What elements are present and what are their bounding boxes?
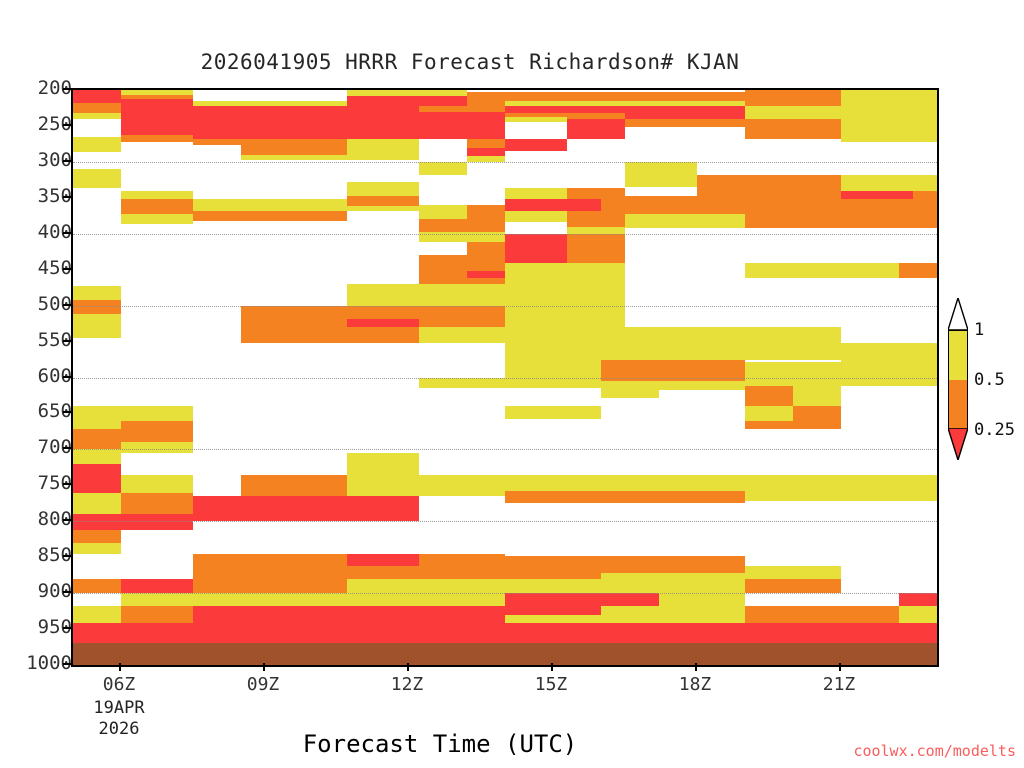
heatmap-cell xyxy=(505,306,625,328)
heatmap-cell xyxy=(73,90,121,103)
heatmap-cell xyxy=(193,211,347,221)
heatmap-cell xyxy=(347,566,419,579)
heatmap-cell xyxy=(467,205,505,219)
heatmap-cell xyxy=(121,199,193,213)
gridline xyxy=(73,162,937,164)
heatmap-cell xyxy=(121,191,193,200)
heatmap-cell xyxy=(73,286,121,300)
heatmap-cell xyxy=(625,214,745,228)
heatmap-cell xyxy=(567,263,625,285)
heatmap-canvas xyxy=(73,90,937,665)
heatmap-cell xyxy=(419,284,505,306)
colorbar-max-arrow-icon xyxy=(948,298,968,330)
heatmap-cell xyxy=(241,145,347,155)
heatmap-cell xyxy=(419,271,467,284)
heatmap-cell xyxy=(121,493,193,515)
heatmap-cell xyxy=(73,169,121,188)
gridline xyxy=(73,449,937,451)
heatmap-cell xyxy=(745,191,793,211)
heatmap-cell xyxy=(73,113,121,119)
heatmap-cell xyxy=(601,579,745,593)
heatmap-cell xyxy=(745,475,841,492)
x-tick-mark xyxy=(551,663,553,671)
heatmap-cell xyxy=(505,188,567,200)
x-tick-mark xyxy=(839,663,841,671)
heatmap-cell xyxy=(567,234,625,263)
heatmap-cell xyxy=(121,406,193,420)
heatmap-cell xyxy=(793,191,841,211)
heatmap-cell xyxy=(841,362,937,378)
heatmap-cell xyxy=(73,406,121,429)
y-tick-mark xyxy=(63,519,71,521)
heatmap-cell xyxy=(745,343,841,360)
heatmap-cell xyxy=(678,343,745,360)
heatmap-cell xyxy=(659,360,745,372)
heatmap-cell xyxy=(567,106,625,113)
heatmap-cell xyxy=(419,579,601,593)
heatmap-cell xyxy=(419,554,505,579)
heatmap-cell xyxy=(347,496,419,521)
y-tick-mark xyxy=(63,483,71,485)
y-tick-mark xyxy=(63,663,71,665)
heatmap-cell xyxy=(899,263,937,279)
heatmap-cell xyxy=(697,175,745,197)
heatmap-cell xyxy=(347,465,419,482)
y-tick-mark xyxy=(63,447,71,449)
heatmap-cell xyxy=(625,196,745,213)
heatmap-cell xyxy=(347,554,419,566)
heatmap-cell xyxy=(601,556,745,573)
heatmap-cell xyxy=(467,92,625,101)
heatmap-cell xyxy=(73,103,121,113)
heatmap-cell xyxy=(467,271,505,278)
heatmap-cell xyxy=(745,406,793,420)
heatmap-cell xyxy=(347,106,419,139)
gridline xyxy=(73,234,937,236)
heatmap-cell xyxy=(841,119,937,142)
y-tick-mark xyxy=(63,627,71,629)
heatmap-cell xyxy=(745,106,841,119)
heatmap-cell xyxy=(745,491,937,501)
heatmap-cell xyxy=(347,139,419,160)
heatmap-cell xyxy=(121,99,193,135)
heatmap-cell xyxy=(73,543,121,554)
heatmap-cell xyxy=(467,242,505,271)
x-axis-title: Forecast Time (UTC) xyxy=(0,730,880,758)
heatmap-cell xyxy=(347,284,419,306)
heatmap-cell xyxy=(505,117,567,121)
heatmap-cell xyxy=(73,314,121,338)
heatmap-cell xyxy=(419,475,505,497)
heatmap-cell xyxy=(467,139,505,148)
heatmap-cell xyxy=(419,112,505,139)
x-tick-label: 21Z xyxy=(823,674,856,695)
heatmap-cell xyxy=(121,475,193,493)
y-tick-mark xyxy=(63,591,71,593)
heatmap-cell xyxy=(193,573,347,593)
heatmap-cell xyxy=(505,606,601,615)
x-tick-label: 12Z xyxy=(391,674,424,695)
heatmap-cell xyxy=(193,496,347,521)
heatmap-cell xyxy=(505,284,625,306)
x-tick-label: 09Z xyxy=(247,674,280,695)
x-tick-mark xyxy=(695,663,697,671)
heatmap-cell xyxy=(419,219,505,232)
heatmap-cell xyxy=(745,211,937,228)
y-tick-mark xyxy=(63,340,71,342)
y-tick-mark xyxy=(63,555,71,557)
heatmap-cell xyxy=(745,90,841,106)
heatmap-cell xyxy=(899,606,937,615)
heatmap-cell xyxy=(745,386,793,406)
heatmap-cell xyxy=(899,615,937,624)
heatmap-cell xyxy=(567,188,625,200)
heatmap-cell xyxy=(745,175,841,191)
heatmap-cell xyxy=(601,606,745,623)
terrain-bar xyxy=(73,643,937,665)
heatmap-cell xyxy=(745,421,841,430)
heatmap-cell xyxy=(347,579,419,593)
heatmap-cell xyxy=(73,606,121,623)
colorbar-segment-yellow xyxy=(949,331,967,380)
heatmap-cell xyxy=(419,327,505,343)
heatmap-cell xyxy=(419,255,467,271)
heatmap-cell xyxy=(193,606,347,623)
y-tick-mark xyxy=(63,411,71,413)
heatmap-cell xyxy=(625,175,697,187)
heatmap-cell xyxy=(841,343,937,362)
heatmap-cell xyxy=(841,606,899,623)
heatmap-cell xyxy=(567,227,625,234)
y-tick-mark xyxy=(63,124,71,126)
heatmap-cell xyxy=(193,554,347,573)
heatmap-cell xyxy=(121,214,193,224)
colorbar-tick-0-5: 0.5 xyxy=(974,370,1005,390)
heatmap-cell xyxy=(841,199,937,211)
y-tick-mark xyxy=(63,268,71,270)
heatmap-cell xyxy=(505,263,567,285)
heatmap-cell xyxy=(505,556,601,579)
x-axis-date-line: 19APR xyxy=(93,698,144,718)
heatmap-cell xyxy=(567,211,625,227)
heatmap-cell xyxy=(347,606,505,623)
heatmap-cell xyxy=(601,360,659,372)
chart-title: 2026041905 HRRR Forecast Richardson# KJA… xyxy=(0,50,940,74)
heatmap-cell xyxy=(567,119,625,139)
heatmap-cell xyxy=(467,148,505,157)
heatmap-cell xyxy=(505,245,567,262)
heatmap-cell xyxy=(193,106,347,139)
gridline xyxy=(73,593,937,595)
heatmap-cell xyxy=(625,343,678,360)
heatmap-cell xyxy=(121,606,193,623)
heatmap-cell xyxy=(73,579,121,593)
heatmap-cell xyxy=(505,491,745,503)
heatmap-cell xyxy=(505,360,601,378)
heatmap-cell xyxy=(793,406,841,420)
heatmap-cell xyxy=(745,119,841,139)
heatmap-cell xyxy=(841,475,937,492)
watermark: coolwx.com/modelts xyxy=(853,742,1016,760)
heatmap-cell xyxy=(601,390,659,397)
heatmap-cell xyxy=(841,90,937,99)
y-tick-mark xyxy=(63,88,71,90)
plot-area xyxy=(71,88,939,667)
heatmap-cell xyxy=(241,155,347,160)
heatmap-cell xyxy=(241,475,347,497)
heatmap-cell xyxy=(625,119,745,128)
heatmap-cell xyxy=(601,475,745,492)
heatmap-cell xyxy=(601,372,745,381)
heatmap-cell xyxy=(73,530,121,543)
y-tick-mark xyxy=(63,232,71,234)
heatmap-cell xyxy=(505,199,601,211)
x-tick-label: 15Z xyxy=(535,674,568,695)
heatmap-cell xyxy=(745,606,841,623)
heatmap-cell xyxy=(505,343,625,360)
y-tick-mark xyxy=(63,376,71,378)
heatmap-cell xyxy=(745,579,841,593)
heatmap-cell xyxy=(121,421,193,443)
heatmap-cell xyxy=(505,327,625,343)
heatmap-cell xyxy=(841,175,937,191)
heatmap-cell xyxy=(601,381,745,390)
heatmap-cell xyxy=(625,92,745,101)
heatmap-cell xyxy=(745,263,841,279)
gridline xyxy=(73,378,937,380)
heatmap-cell xyxy=(347,206,419,210)
heatmap-cell xyxy=(73,137,121,151)
heatmap-cell xyxy=(625,327,745,343)
heatmap-cell xyxy=(505,211,567,223)
colorbar-tick-1: 1 xyxy=(974,320,984,340)
heatmap-cell xyxy=(419,306,505,328)
heatmap-cell xyxy=(121,579,193,593)
colorbar-tick-0-25: 0.25 xyxy=(974,420,1015,440)
heatmap-cell xyxy=(745,566,841,579)
gridline xyxy=(73,521,937,523)
heatmap-cell xyxy=(505,406,601,419)
heatmap-cell xyxy=(505,475,601,492)
colorbar-min-arrow-icon xyxy=(948,428,968,460)
heatmap-cell xyxy=(347,196,419,206)
heatmap-cell xyxy=(505,615,601,624)
heatmap-cell xyxy=(347,453,419,465)
heatmap-cell xyxy=(241,319,347,328)
heatmap-cell xyxy=(241,327,347,343)
heatmap-cell xyxy=(419,205,467,219)
heatmap-cell xyxy=(347,96,467,106)
heatmap-cell xyxy=(841,191,913,200)
heatmap-cell xyxy=(625,106,745,119)
colorbar-segment-orange xyxy=(949,380,967,429)
heatmap-cell xyxy=(347,319,419,328)
heatmap-cell xyxy=(73,501,121,514)
heatmap-cell xyxy=(347,182,419,196)
x-tick-mark xyxy=(407,663,409,671)
heatmap-cell xyxy=(193,199,347,211)
x-tick-label: 18Z xyxy=(679,674,712,695)
heatmap-cell xyxy=(793,386,841,406)
colorbar: 1 0.5 0.25 xyxy=(944,300,972,460)
heatmap-cell xyxy=(73,429,121,449)
x-tick-mark xyxy=(263,663,265,671)
heatmap-cell xyxy=(73,449,121,463)
heatmap-cell xyxy=(347,482,419,496)
colorbar-body xyxy=(948,330,968,430)
y-tick-mark xyxy=(63,304,71,306)
y-tick-mark xyxy=(63,196,71,198)
heatmap-cell xyxy=(73,464,121,493)
heatmap-cell xyxy=(347,327,419,343)
heatmap-cell xyxy=(121,135,193,142)
heatmap-cell xyxy=(505,106,567,113)
x-tick-mark xyxy=(119,663,121,671)
y-tick-mark xyxy=(63,160,71,162)
x-tick-label: 06Z xyxy=(103,674,136,695)
heatmap-cell xyxy=(841,99,937,119)
chart-page: 2026041905 HRRR Forecast Richardson# KJA… xyxy=(0,0,1024,768)
heatmap-cell xyxy=(73,493,121,502)
heatmap-cell xyxy=(505,139,567,151)
heatmap-cell xyxy=(745,362,841,378)
heatmap-cell xyxy=(745,327,841,343)
heatmap-cell xyxy=(841,263,899,279)
heatmap-cell xyxy=(601,199,625,211)
gridline xyxy=(73,306,937,308)
